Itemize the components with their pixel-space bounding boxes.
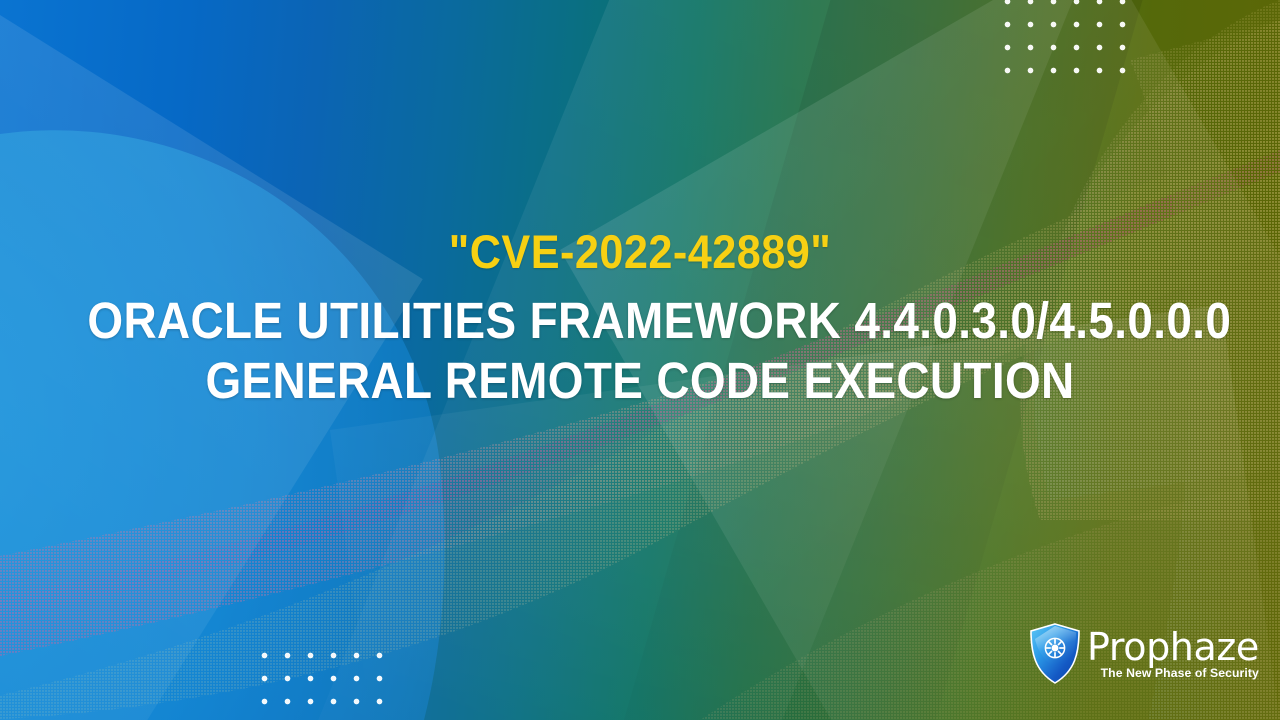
- advisory-title-line-1: ORACLE UTILITIES FRAMEWORK 4.4.0.3.0/4.5…: [87, 291, 1192, 351]
- cve-identifier: "CVE-2022-42889": [75, 228, 1205, 275]
- headline-block: "CVE-2022-42889" ORACLE UTILITIES FRAMEW…: [0, 228, 1280, 411]
- cve-advisory-banner: "CVE-2022-42889" ORACLE UTILITIES FRAMEW…: [0, 0, 1280, 720]
- brand-tagline: The New Phase of Security: [1087, 667, 1259, 680]
- dot-grid-bottom-left: [253, 644, 391, 720]
- logo-text-block: Prophaze The New Phase of Security: [1087, 627, 1259, 681]
- prophaze-logo[interactable]: Prophaze The New Phase of Security: [1029, 618, 1261, 690]
- dot-grid-top-right: [996, 0, 1134, 82]
- shield-kubernetes-helm-icon: [1029, 623, 1081, 685]
- brand-name: Prophaze: [1087, 629, 1259, 666]
- advisory-title-line-2: GENERAL REMOTE CODE EXECUTION: [87, 351, 1192, 411]
